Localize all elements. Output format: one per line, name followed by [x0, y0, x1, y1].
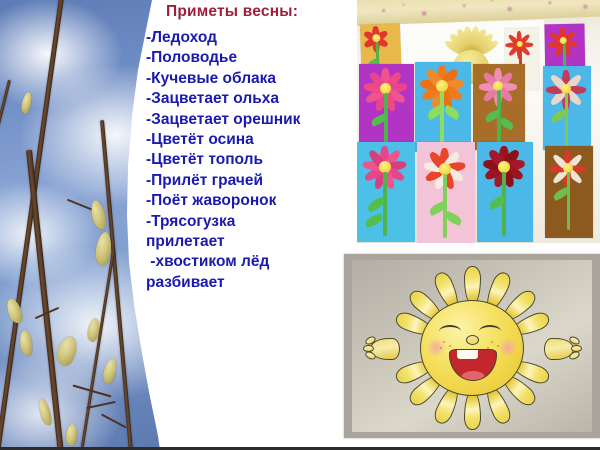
- flower-card: [359, 64, 414, 152]
- list-item: -Трясогузка: [146, 212, 361, 232]
- list-item: -Зацветает орешник: [146, 110, 361, 130]
- sun-nose: [466, 335, 479, 345]
- spring-signs-list: -Ледоход -Половодье -Кучевые облака -Зац…: [146, 28, 361, 293]
- photo-smiling-sun: [344, 254, 600, 438]
- flower-card: [417, 142, 475, 243]
- sun-mouth: [449, 349, 497, 381]
- sun-eye-left: [439, 325, 461, 338]
- page-title: Приметы весны:: [166, 3, 298, 21]
- flower-stem: [497, 90, 501, 146]
- sun-hand-left: [370, 338, 400, 360]
- sun-face: [420, 300, 524, 396]
- sun-ray: [464, 390, 481, 430]
- list-item: -Прилёт грачей: [146, 171, 361, 191]
- flower-card: [543, 66, 591, 150]
- text-panel: Приметы весны: -Ледоход -Половодье -Куче…: [138, 0, 363, 450]
- flower-stem: [567, 172, 570, 230]
- list-item: -Поёт жаворонок: [146, 191, 361, 211]
- sun-eye-right: [479, 325, 501, 338]
- photo-flower-craft-wall: [357, 0, 600, 243]
- flower-card: [357, 142, 415, 242]
- sun-poster-paper: [352, 260, 592, 432]
- flower-stem: [384, 93, 388, 149]
- flower-stem: [383, 172, 387, 236]
- list-item: -Цветёт тополь: [146, 150, 361, 170]
- sun-teeth: [457, 350, 478, 359]
- flower-stem: [565, 93, 568, 147]
- sky-background: [0, 0, 160, 450]
- list-item: -Кучевые облака: [146, 69, 361, 89]
- list-item: -Половодье: [146, 48, 361, 68]
- list-item: -Цветёт осина: [146, 130, 361, 150]
- list-item: -Зацветает ольха: [146, 89, 361, 109]
- flower-card: [473, 64, 525, 150]
- list-item: прилетает: [146, 232, 361, 252]
- list-item: разбивает: [146, 273, 361, 293]
- list-item: -Ледоход: [146, 28, 361, 48]
- flower-card: [545, 146, 593, 238]
- sun-tongue: [461, 371, 485, 381]
- presentation-slide: Приметы весны: -Ледоход -Половодье -Куче…: [0, 0, 600, 450]
- flower-card: [477, 142, 533, 242]
- flower-card: [415, 62, 471, 152]
- list-item: -хвостиком лёд: [146, 252, 361, 272]
- sun-hand-right: [544, 338, 574, 360]
- flower-stem: [440, 91, 444, 149]
- photo-budding-branches: [0, 0, 160, 450]
- sun-cheek-right: [497, 339, 519, 356]
- sun-illustration: [382, 268, 562, 428]
